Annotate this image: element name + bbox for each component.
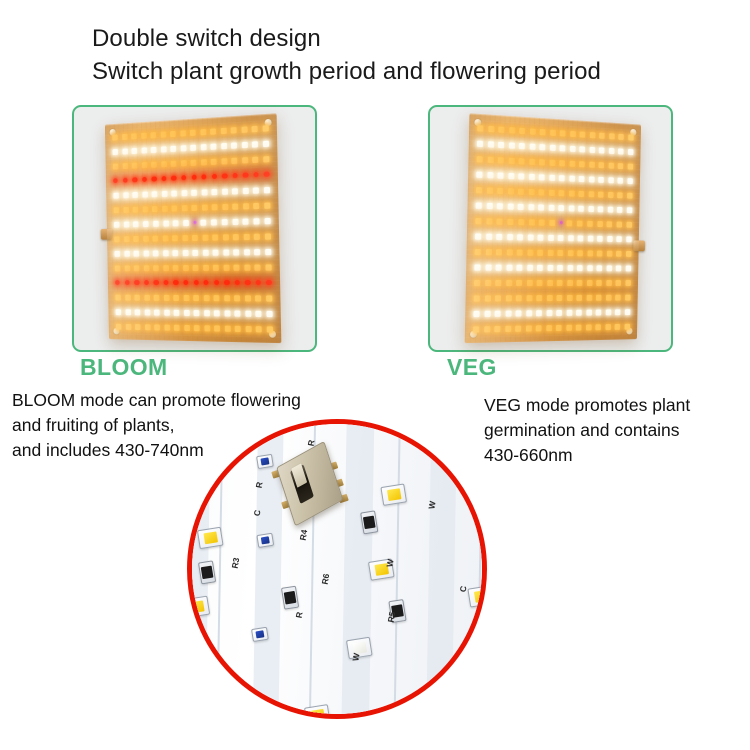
led-white: [153, 250, 159, 256]
led-red: [256, 280, 262, 286]
description-line: VEG mode promotes plant: [484, 393, 734, 418]
led-white: [162, 190, 168, 196]
led-amber: [163, 265, 169, 271]
resistor-band: [363, 516, 376, 530]
description-line: germination and contains: [484, 418, 734, 443]
led-white: [625, 309, 631, 315]
led-white: [628, 149, 633, 155]
led-row-white: [114, 216, 271, 229]
led-white: [190, 144, 196, 150]
led-white: [626, 265, 632, 271]
led-amber: [242, 157, 248, 163]
led-white: [245, 310, 251, 316]
led-amber: [625, 323, 631, 329]
led-white: [616, 265, 622, 271]
led-amber: [267, 326, 273, 332]
led-white: [134, 250, 140, 256]
led-die: [386, 488, 401, 501]
led-amber: [589, 161, 595, 167]
led-amber: [505, 325, 511, 331]
led-white: [505, 310, 511, 316]
led-red: [152, 176, 157, 182]
led-amber: [526, 295, 532, 301]
led-amber: [599, 162, 605, 168]
led-amber: [265, 233, 271, 239]
led-amber: [477, 156, 483, 162]
led-amber: [200, 128, 206, 134]
led-white: [588, 235, 594, 241]
led-amber: [477, 125, 483, 132]
led-red: [161, 176, 166, 182]
led-white: [201, 189, 207, 195]
led-white: [265, 248, 271, 254]
led-amber: [160, 131, 166, 137]
led-amber: [598, 191, 604, 197]
led-amber: [253, 156, 259, 162]
led-white: [485, 264, 491, 270]
led-amber: [182, 205, 188, 211]
led-row-white: [474, 262, 631, 272]
led-white: [609, 147, 615, 153]
led-amber: [204, 325, 210, 331]
led-amber: [191, 159, 197, 165]
led-row-red: [115, 278, 272, 287]
led-amber: [254, 233, 260, 239]
led-white: [473, 310, 479, 316]
led-amber: [202, 204, 208, 210]
led-white: [212, 188, 218, 194]
led-white: [589, 176, 595, 182]
led-amber: [181, 160, 187, 166]
pcb-edge-line: [392, 419, 401, 719]
led-white: [518, 203, 524, 209]
led-amber: [628, 163, 633, 169]
led-white: [256, 310, 262, 316]
silkscreen-tag: R3: [230, 557, 242, 569]
led-white: [223, 249, 229, 255]
led-amber: [244, 233, 250, 239]
smd-led: [256, 533, 274, 548]
led-white: [242, 141, 248, 147]
led-amber: [203, 264, 209, 270]
led-die: [261, 536, 270, 544]
led-white: [618, 148, 624, 154]
led-amber: [519, 127, 525, 133]
led-row-amber: [477, 154, 634, 171]
led-amber: [193, 295, 199, 301]
led-white: [540, 144, 546, 150]
led-white: [222, 188, 228, 194]
led-amber: [548, 249, 554, 255]
led-white: [578, 205, 584, 211]
led-red: [193, 280, 198, 285]
silkscreen-tag: R4: [298, 529, 310, 541]
led-red: [245, 280, 250, 286]
led-amber: [586, 294, 592, 300]
led-white: [263, 140, 269, 147]
led-amber: [144, 294, 150, 300]
smd-led: [251, 627, 269, 642]
led-white: [627, 207, 633, 213]
description-line: BLOOM mode can promote flowering: [12, 388, 362, 413]
led-amber: [577, 220, 583, 226]
led-amber: [152, 206, 158, 212]
led-amber: [516, 279, 522, 285]
led-red: [183, 280, 188, 285]
led-amber: [487, 187, 493, 193]
led-white: [556, 309, 562, 315]
led-red: [224, 280, 229, 285]
led-amber: [508, 157, 514, 163]
led-white: [516, 310, 522, 316]
led-white: [507, 203, 513, 209]
led-amber: [536, 295, 542, 301]
led-amber: [171, 160, 177, 166]
led-row-white: [475, 231, 632, 243]
led-white: [599, 147, 605, 153]
led-amber: [616, 280, 622, 286]
led-amber: [174, 324, 180, 330]
infographic-canvas: Double switch design Switch plant growth…: [0, 0, 750, 750]
led-white: [569, 205, 575, 211]
mode-description-veg: VEG mode promotes plant germination and …: [484, 393, 734, 468]
led-white: [606, 309, 612, 315]
led-white: [597, 235, 603, 241]
led-amber: [506, 279, 512, 285]
led-amber: [124, 236, 130, 242]
led-amber: [134, 265, 140, 271]
led-white: [143, 250, 149, 256]
led-amber: [123, 206, 129, 212]
board-stage-bloom: [74, 107, 315, 350]
led-white: [580, 146, 586, 152]
led-white: [475, 233, 481, 239]
led-amber: [255, 264, 261, 270]
led-white: [132, 191, 138, 197]
led-red: [253, 172, 259, 178]
led-amber: [475, 217, 481, 223]
led-white: [203, 249, 209, 255]
led-white: [221, 142, 227, 148]
panel-frame-veg: [428, 105, 673, 352]
led-amber: [124, 265, 130, 271]
led-white: [201, 219, 207, 225]
led-white: [124, 221, 130, 227]
led-amber: [190, 129, 196, 135]
led-amber: [516, 295, 522, 301]
led-amber: [549, 219, 555, 225]
led-row-amber: [116, 322, 273, 334]
led-amber: [114, 207, 120, 213]
led-row-white: [114, 247, 271, 258]
led-white: [496, 233, 502, 239]
led-white: [497, 203, 503, 209]
led-amber: [567, 280, 573, 286]
led-amber: [495, 295, 501, 301]
led-white: [547, 264, 553, 270]
led-amber: [626, 221, 632, 227]
led-amber: [605, 324, 611, 330]
led-row-amber: [477, 123, 634, 141]
led-amber: [487, 156, 493, 162]
led-white: [170, 145, 176, 151]
led-white: [266, 310, 272, 316]
silkscreen-tag: W: [426, 500, 437, 510]
led-white: [201, 144, 207, 150]
led-die: [203, 531, 218, 544]
led-amber: [606, 280, 612, 286]
led-white: [486, 233, 492, 239]
led-white: [243, 218, 249, 224]
led-amber: [112, 134, 117, 140]
led-white: [617, 206, 623, 212]
led-white: [498, 172, 504, 178]
led-amber: [224, 295, 230, 301]
led-row-white: [476, 200, 633, 214]
led-row-amber: [114, 200, 271, 214]
led-red: [234, 280, 239, 286]
switch-detail-inset: R C R3 W R6 R R4 W R5 R W C: [187, 419, 487, 719]
led-white: [211, 143, 217, 149]
led-amber: [145, 324, 151, 330]
led-amber: [162, 205, 168, 211]
led-red: [154, 280, 159, 285]
led-amber: [252, 125, 258, 132]
led-amber: [527, 279, 533, 285]
led-amber: [497, 187, 503, 193]
led-amber: [580, 131, 586, 137]
led-amber: [515, 325, 521, 331]
led-row-white: [116, 307, 273, 318]
led-amber: [569, 190, 575, 196]
led-white: [578, 235, 584, 241]
led-white: [518, 173, 524, 179]
led-amber: [255, 295, 261, 301]
led-white: [577, 265, 583, 271]
led-row-white: [476, 169, 633, 185]
led-amber: [568, 250, 574, 256]
led-die: [310, 709, 325, 719]
led-white: [183, 220, 189, 226]
led-amber: [519, 158, 525, 164]
led-die: [473, 590, 487, 603]
led-white: [163, 250, 169, 256]
led-white: [211, 219, 217, 225]
led-white: [254, 249, 260, 255]
led-white: [174, 309, 180, 315]
led-white: [161, 146, 167, 152]
led-white: [232, 188, 238, 194]
silkscreen-tag: W: [350, 652, 361, 662]
led-white: [113, 192, 119, 198]
led-amber: [560, 130, 566, 136]
led-amber: [143, 235, 149, 241]
led-white: [615, 309, 621, 315]
led-amber: [234, 264, 240, 270]
led-white: [599, 176, 605, 182]
board-connector: [633, 240, 645, 251]
led-amber: [539, 189, 545, 195]
led-amber: [498, 126, 504, 132]
led-amber: [596, 294, 602, 300]
led-amber: [204, 295, 210, 301]
led-white: [181, 190, 187, 196]
led-white: [253, 218, 259, 224]
led-amber: [474, 295, 480, 301]
led-red: [266, 280, 272, 286]
led-amber: [597, 280, 603, 286]
led-amber: [266, 295, 272, 301]
led-amber: [597, 250, 603, 256]
led-white: [122, 148, 128, 154]
led-amber: [233, 203, 239, 209]
led-amber: [547, 295, 553, 301]
led-red: [243, 172, 248, 178]
led-amber: [485, 249, 491, 255]
led-white: [114, 221, 120, 227]
led-amber: [241, 126, 247, 132]
led-amber: [153, 235, 159, 241]
led-red: [113, 178, 118, 183]
led-amber: [135, 324, 141, 330]
led-white: [154, 309, 160, 315]
led-amber: [141, 162, 147, 168]
led-white: [558, 235, 564, 241]
led-amber: [122, 163, 128, 169]
led-amber: [213, 234, 219, 240]
led-amber: [579, 161, 585, 167]
led-amber: [256, 326, 262, 332]
led-white: [243, 187, 249, 193]
led-amber: [154, 324, 160, 330]
led-white: [527, 264, 533, 270]
led-amber: [192, 234, 198, 240]
led-amber: [246, 325, 252, 331]
led-amber: [577, 280, 583, 286]
led-white: [123, 192, 129, 198]
led-amber: [550, 129, 556, 135]
led-white: [496, 264, 502, 270]
led-amber: [537, 279, 543, 285]
led-amber: [530, 128, 536, 134]
led-amber: [222, 203, 228, 209]
led-white: [586, 309, 592, 315]
led-amber: [245, 295, 251, 301]
led-white: [579, 175, 585, 181]
led-amber: [154, 294, 160, 300]
led-white: [231, 142, 237, 148]
led-white: [484, 310, 490, 316]
led-white: [557, 265, 563, 271]
led-red: [115, 280, 120, 285]
led-amber: [616, 294, 622, 300]
led-amber: [625, 280, 631, 286]
led-amber: [607, 250, 613, 256]
led-amber: [559, 160, 565, 166]
led-amber: [557, 294, 563, 300]
led-white: [233, 249, 239, 255]
led-white: [191, 189, 197, 195]
smd-led: [304, 704, 331, 719]
led-amber: [193, 264, 199, 270]
led-white: [569, 175, 575, 181]
led-row-amber: [113, 154, 270, 171]
led-amber: [517, 249, 523, 255]
led-white: [618, 177, 624, 183]
led-white: [125, 309, 131, 315]
led-amber: [539, 219, 545, 225]
led-amber: [540, 128, 546, 134]
led-red: [214, 280, 219, 285]
led-amber: [214, 325, 220, 331]
led-amber: [508, 218, 514, 224]
led-amber: [131, 133, 137, 139]
led-white: [596, 309, 602, 315]
led-white: [495, 310, 501, 316]
led-amber: [141, 132, 147, 138]
led-white: [587, 265, 593, 271]
led-amber: [617, 221, 623, 227]
led-white: [235, 310, 241, 316]
description-line: 430-660nm: [484, 443, 734, 468]
led-white: [193, 249, 199, 255]
led-amber: [559, 190, 565, 196]
led-amber: [133, 206, 139, 212]
led-die: [218, 446, 233, 459]
led-white: [538, 234, 544, 240]
led-amber: [164, 294, 170, 300]
led-amber: [546, 325, 552, 331]
led-amber: [518, 188, 524, 194]
led-white: [549, 174, 555, 180]
led-amber: [587, 280, 593, 286]
led-amber: [223, 234, 229, 240]
led-white: [568, 235, 574, 241]
led-amber: [505, 295, 511, 301]
led-row-amber: [475, 247, 632, 258]
led-amber: [233, 234, 239, 240]
led-white: [151, 146, 157, 152]
led-amber: [566, 324, 572, 330]
led-white: [252, 141, 258, 147]
led-amber: [194, 325, 200, 331]
led-amber: [625, 294, 631, 300]
led-white: [163, 220, 169, 226]
led-red: [181, 175, 186, 181]
led-white: [598, 206, 604, 212]
led-row-amber: [473, 322, 630, 334]
led-amber: [567, 220, 573, 226]
led-white: [173, 250, 179, 256]
led-red: [163, 280, 168, 285]
led-amber: [626, 250, 632, 256]
led-amber: [508, 188, 514, 194]
mode-label-veg: VEG: [447, 354, 497, 381]
led-amber: [113, 163, 119, 169]
led-amber: [587, 250, 593, 256]
led-amber: [161, 161, 167, 167]
led-amber: [558, 250, 564, 256]
led-white: [264, 217, 270, 223]
led-white: [509, 142, 515, 148]
led-white: [173, 220, 179, 226]
led-amber: [576, 324, 582, 330]
led-white: [183, 250, 189, 256]
mode-label-bloom: BLOOM: [80, 354, 168, 381]
led-white: [115, 250, 121, 256]
pcb-edge-line: [215, 419, 224, 719]
led-white: [253, 187, 259, 193]
